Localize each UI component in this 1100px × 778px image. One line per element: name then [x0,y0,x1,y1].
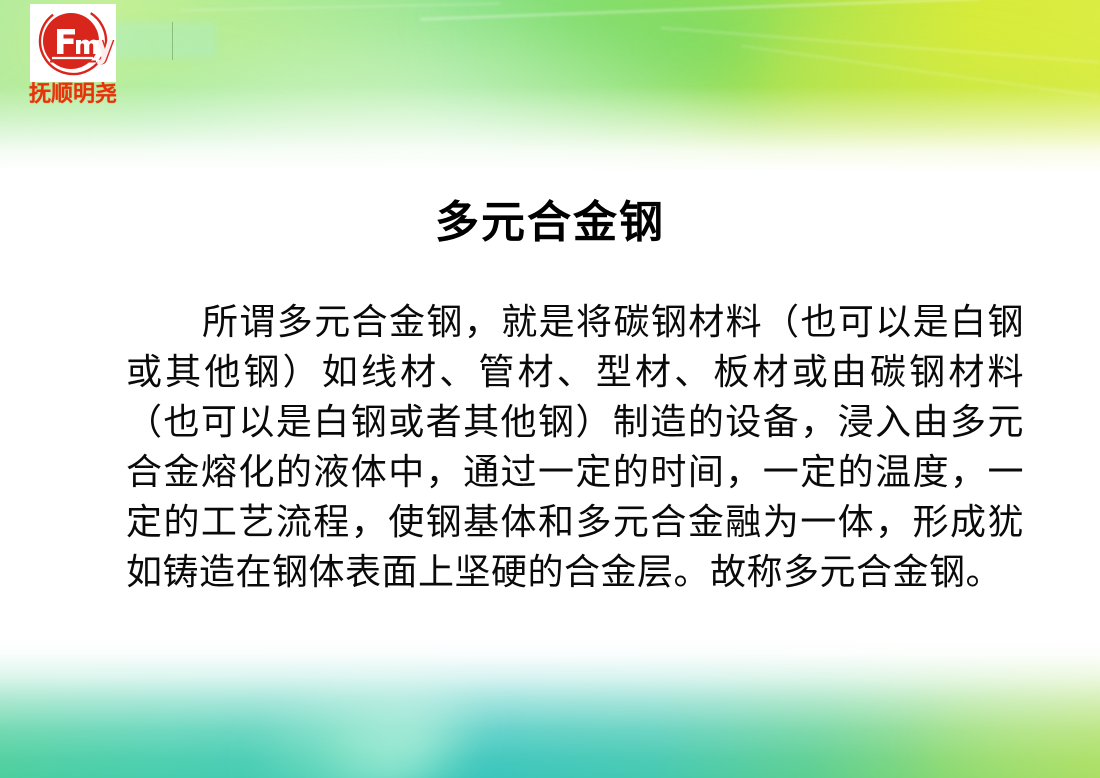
slide-content: 多元合金钢 所谓多元合金钢，就是将碳钢材料（也可以是白钢或其他钢）如线材、管材、… [0,0,1100,778]
slide-title: 多元合金钢 [0,197,1100,250]
slide-body-paragraph: 所谓多元合金钢，就是将碳钢材料（也可以是白钢或其他钢）如线材、管材、型材、板材或… [126,298,1024,598]
company-name-label: 抚顺明尧 [12,83,134,107]
company-logo-block: 抚顺明尧 [12,4,134,107]
fmy-circle-logo-icon [30,4,116,82]
presentation-slide: 抚顺明尧 多元合金钢 所谓多元合金钢，就是将碳钢材料（也可以是白钢或其他钢）如线… [0,0,1100,778]
logo-white-plate [30,4,116,82]
